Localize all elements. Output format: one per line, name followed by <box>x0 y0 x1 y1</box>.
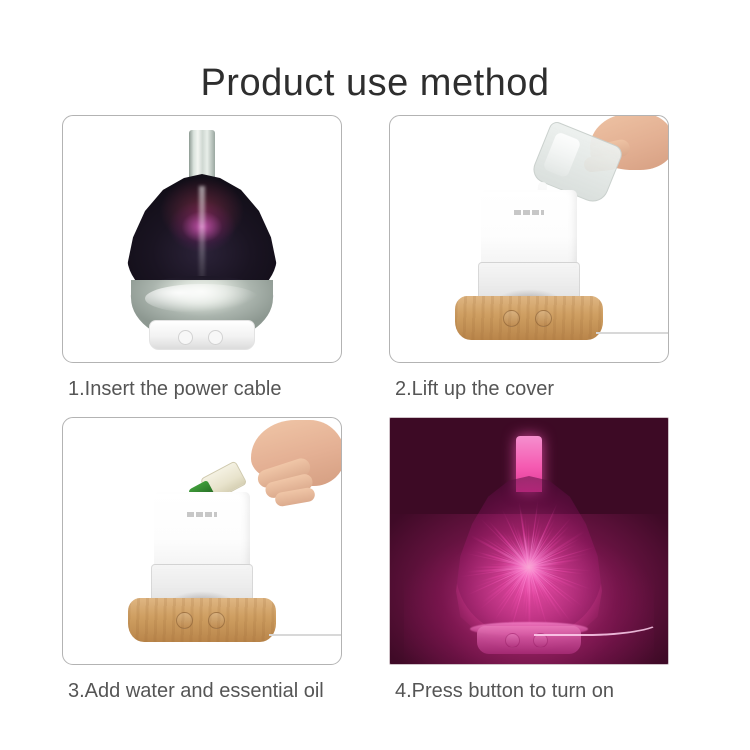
power-button-icon <box>176 612 193 629</box>
floor-glow <box>390 514 668 664</box>
wood-base <box>128 598 276 642</box>
wood-base <box>455 296 603 340</box>
power-button-icon <box>503 310 520 327</box>
diffuser-open-unit <box>444 190 614 340</box>
step-2-caption: 2.Lift up the cover <box>395 378 554 401</box>
water-reservoir <box>154 492 250 570</box>
power-cable <box>596 318 669 334</box>
step-3: 3.Add water and essential oil <box>62 417 342 707</box>
step-1-caption: 1.Insert the power cable <box>68 378 281 401</box>
steps-grid: 1.Insert the power cable <box>62 115 692 707</box>
diffuser-base <box>149 320 255 350</box>
step-2-panel <box>389 115 669 363</box>
step-2: 2.Lift up the cover <box>389 115 669 405</box>
step-4: 4.Press button to turn on <box>389 417 669 707</box>
light-button-icon <box>208 330 223 345</box>
step-1-panel <box>62 115 342 363</box>
step-4-caption: 4.Press button to turn on <box>395 680 614 703</box>
brand-logo <box>514 210 544 215</box>
wood-base-top <box>455 289 603 309</box>
brand-logo <box>187 512 217 517</box>
step-3-caption: 3.Add water and essential oil <box>68 680 324 703</box>
light-button-icon <box>208 612 225 629</box>
diffuser-open-unit <box>117 492 287 642</box>
step-2-illustration <box>390 116 668 362</box>
step-1: 1.Insert the power cable <box>62 115 342 405</box>
step-4-illustration <box>390 418 668 664</box>
step-1-illustration <box>63 116 341 362</box>
power-cable <box>269 620 342 636</box>
light-button-icon <box>535 310 552 327</box>
glass-vase-diffuser-icon <box>127 130 277 350</box>
step-4-panel <box>389 417 669 665</box>
vase-highlight <box>199 186 205 286</box>
step-3-panel <box>62 417 342 665</box>
water-reservoir <box>481 190 577 268</box>
infographic-page: Product use method <box>0 0 750 750</box>
step-3-illustration <box>63 418 341 664</box>
power-button-icon <box>178 330 193 345</box>
page-title: Product use method <box>0 62 750 105</box>
wood-base-top <box>128 591 276 611</box>
